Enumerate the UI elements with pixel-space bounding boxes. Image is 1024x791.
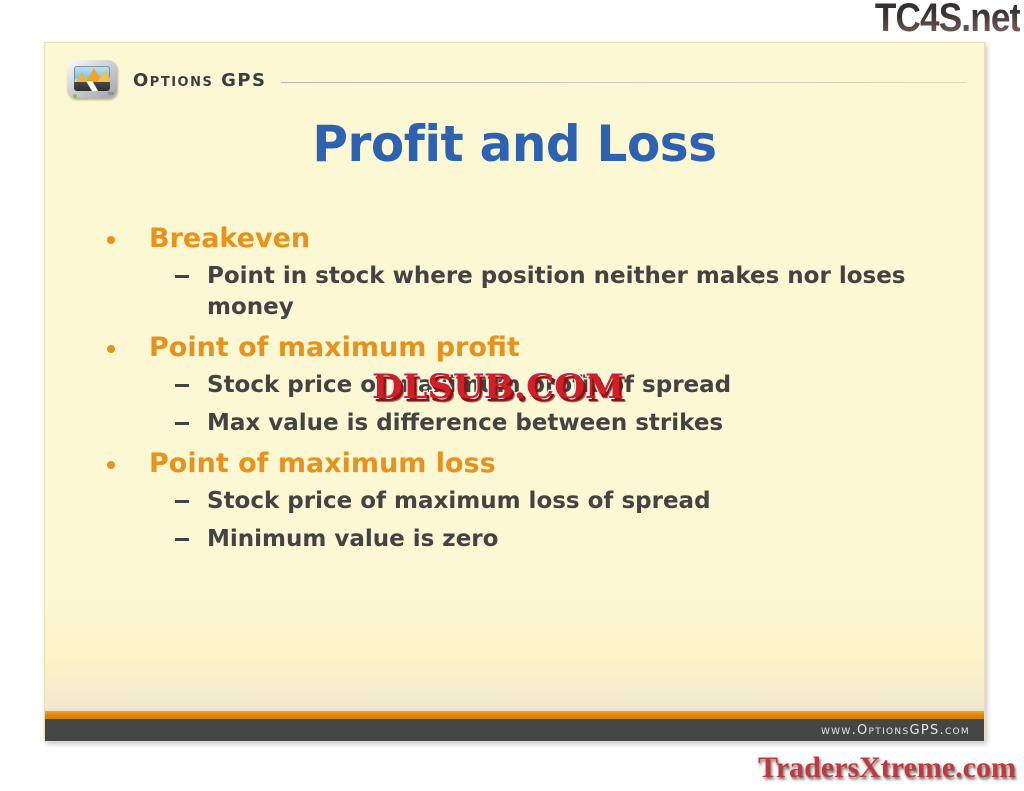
bullet-level2: Minimum value is zero <box>97 524 944 555</box>
gps-icon-led <box>73 94 77 98</box>
bullet-level2: Stock price of maximum loss of spread <box>97 486 944 517</box>
dash-marker-icon <box>175 275 189 278</box>
footer-bar: www.OptionsGPS.com <box>45 719 984 741</box>
bullet-dot-icon <box>107 345 115 353</box>
bullet-level1: Point of maximum loss <box>97 446 944 482</box>
bullet-group: Point of maximum loss Stock price of max… <box>97 446 944 555</box>
bullet-level2-label: Stock price of maximum loss of spread <box>207 488 711 514</box>
bullet-level1: Point of maximum profit <box>97 330 944 366</box>
slide-header: Options GPS <box>65 57 966 103</box>
bullet-level1-label: Point of maximum profit <box>149 332 520 363</box>
bullet-group: Breakeven Point in stock where position … <box>97 221 944 323</box>
bullet-dot-icon <box>107 236 115 244</box>
bullet-dot-icon <box>107 461 115 469</box>
bullet-level1-label: Breakeven <box>149 223 310 254</box>
brand-title: Options GPS <box>133 70 267 91</box>
header-divider-rule <box>281 82 966 83</box>
slide-title: Profit and Loss <box>59 115 970 173</box>
gps-device-icon <box>65 59 119 101</box>
bullet-level2-label: Minimum value is zero <box>207 526 498 552</box>
tc4s-watermark: TC4S.net <box>874 0 1020 40</box>
gps-icon-road <box>76 81 109 91</box>
bullet-level2: Max value is difference between strikes <box>97 408 944 439</box>
bullet-level2-label: Max value is difference between strikes <box>207 410 723 436</box>
tradersxtreme-watermark: TradersXtreme.com <box>758 751 1016 785</box>
gps-icon-screen <box>74 66 110 91</box>
bullet-level2: Point in stock where position neither ma… <box>97 261 944 323</box>
dash-marker-icon <box>175 422 189 425</box>
dash-marker-icon <box>175 384 189 387</box>
dash-marker-icon <box>175 538 189 541</box>
gps-icon-button <box>108 92 114 95</box>
dlsub-watermark: DLSUB.COM <box>372 370 624 404</box>
bullet-level1: Breakeven <box>97 221 944 257</box>
bullet-level2-label: Point in stock where position neither ma… <box>207 263 906 320</box>
bullet-level1-label: Point of maximum loss <box>149 448 496 479</box>
footer-accent-bar <box>45 711 984 719</box>
dash-marker-icon <box>175 500 189 503</box>
footer-url: www.OptionsGPS.com <box>821 723 970 738</box>
